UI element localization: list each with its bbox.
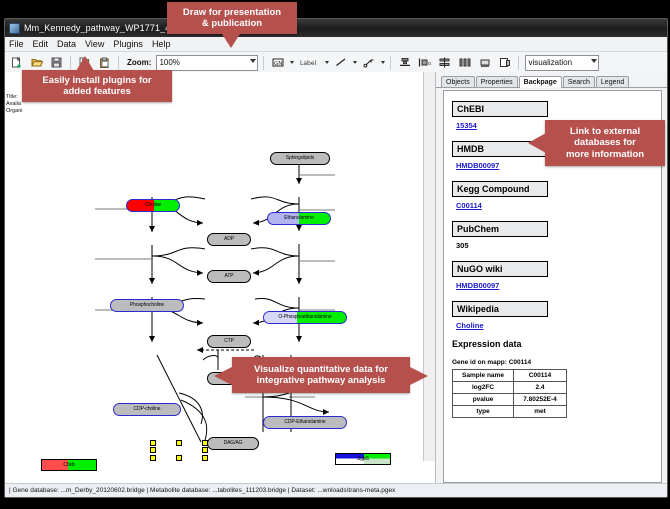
chevron-down-icon <box>250 59 256 63</box>
selection-handle-sw[interactable] <box>150 455 156 461</box>
paste-icon[interactable] <box>96 54 113 71</box>
table-row: Sample name C00114 <box>453 370 567 382</box>
status-text: | Gene database: ...m_Derby_20120602.bri… <box>9 487 395 494</box>
datanode-dropdown-icon[interactable] <box>290 61 294 64</box>
menu-file[interactable]: File <box>9 39 24 49</box>
svg-text:Label: Label <box>300 60 317 67</box>
node-label: CDP-choline <box>134 407 161 412</box>
tab-search[interactable]: Search <box>563 76 595 87</box>
cell-value: met <box>514 406 567 418</box>
annotation-draw-text: Draw for presentation& publication <box>183 7 281 30</box>
db-link-wikipedia[interactable]: Choline <box>456 321 661 330</box>
order-icon[interactable] <box>496 54 513 71</box>
datanode-icon[interactable]: GN <box>269 54 286 71</box>
save-icon[interactable] <box>48 54 65 71</box>
pathway-canvas-panel: Title: Availa Organi <box>5 72 436 497</box>
metabolite-node-adp[interactable]: ADP <box>207 233 251 246</box>
tab-properties[interactable]: Properties <box>476 76 518 87</box>
annotation-plugins-text: Easily install plugins foradded features <box>42 75 151 98</box>
db-header-nugo-wiki: NuGO wiki <box>452 261 548 277</box>
anchor-dropdown-icon[interactable] <box>381 61 385 64</box>
node-label: ADP <box>224 237 234 242</box>
db-header-pubchem: PubChem <box>452 221 548 237</box>
metabolite-node-atp[interactable]: ATP <box>207 270 251 283</box>
annotation-draw-presentation: Draw for presentation& publication <box>167 2 297 34</box>
menu-data[interactable]: Data <box>57 39 76 49</box>
stack-icon[interactable] <box>436 54 453 71</box>
toolbar-separator-3 <box>263 56 264 70</box>
annotation-links-pointer <box>528 133 546 153</box>
label-dropdown-icon[interactable] <box>325 61 329 64</box>
annotation-visualize-pointer-left <box>214 367 232 385</box>
toolbar-separator-2 <box>118 56 119 70</box>
node-label: Phosphocholine <box>130 303 164 308</box>
expression-data-heading: Expression data <box>452 339 661 349</box>
visualization-value: visualization <box>528 58 572 67</box>
node-label: CDP-Ethanolamine <box>284 420 325 425</box>
selection-handle-w[interactable] <box>150 447 156 453</box>
menu-bar: File Edit Data View Plugins Help <box>5 37 667 52</box>
group-icon[interactable] <box>476 54 493 71</box>
metabolite-node-phosphocholine[interactable]: Phosphocholine <box>110 299 184 312</box>
selection-handle-e[interactable] <box>202 447 208 453</box>
zoom-label: Zoom: <box>127 58 151 67</box>
selection-handle-n[interactable] <box>176 440 182 446</box>
cell-value: C00114 <box>514 370 567 382</box>
info-title-label: Title: <box>6 94 23 101</box>
cell-key: type <box>453 406 514 418</box>
pathway-canvas[interactable]: Title: Availa Organi <box>5 72 435 472</box>
node-label: Chkb <box>63 463 74 468</box>
db-header-chebi: ChEBI <box>452 101 548 117</box>
metabolite-node-dag[interactable]: DAG/AG <box>207 437 259 450</box>
cell-key: pvalue <box>453 394 514 406</box>
node-label: Ethanolamine <box>284 216 313 221</box>
annotation-install-plugins: Easily install plugins foradded features <box>22 70 172 102</box>
metabolite-node-cdp-ethanolamine[interactable]: CDP-Ethanolamine <box>263 416 347 429</box>
toolbar-separator-1 <box>70 56 71 70</box>
table-row: pvalue 7.80252E-4 <box>453 394 567 406</box>
tab-backpage[interactable]: Backpage <box>519 76 562 88</box>
db-value-pubchem: 305 <box>456 241 661 250</box>
node-label: Sgpl1 <box>357 457 369 462</box>
spacing-icon[interactable] <box>456 54 473 71</box>
table-row: type met <box>453 406 567 418</box>
selection-handle-ne[interactable] <box>202 440 208 446</box>
align-icon[interactable] <box>396 54 413 71</box>
metabolite-node-choline[interactable]: Choline <box>126 199 180 212</box>
db-header-wikipedia: Wikipedia <box>452 301 548 317</box>
anchor-icon[interactable] <box>360 54 377 71</box>
cell-value: 7.80252E-4 <box>514 394 567 406</box>
side-panel-tabs: Objects Properties Backpage Search Legen… <box>436 72 667 88</box>
tab-legend[interactable]: Legend <box>596 76 629 87</box>
node-label: O-Phosphoethanolamine <box>278 315 331 320</box>
window-titlebar: Mm_Kennedy_pathway_WP1771_45176.gpml <box>5 19 667 37</box>
metabolite-node-ctp[interactable]: CTP <box>207 335 251 348</box>
annotation-external-links: Link to externaldatabases formore inform… <box>545 120 665 166</box>
menu-view[interactable]: View <box>85 39 104 49</box>
node-label: ATP <box>224 274 233 279</box>
metabolite-node-cdp-choline[interactable]: CDP-choline <box>113 403 181 416</box>
canvas-vertical-scrollbar[interactable] <box>423 72 435 461</box>
table-row: log2FC 2.4 <box>453 382 567 394</box>
status-bar: | Gene database: ...m_Derby_20120602.bri… <box>5 483 668 497</box>
metabolite-node[interactable]: Sphingolipids <box>270 152 330 165</box>
zoom-value: 100% <box>159 58 179 67</box>
selection-handle-nw[interactable] <box>150 440 156 446</box>
annotation-visualize-pointer-right <box>410 367 428 385</box>
line-icon[interactable] <box>332 54 349 71</box>
label-icon[interactable]: Label <box>297 54 321 71</box>
annotation-visualize-data: Visualize quantitative data forintegrati… <box>232 357 410 393</box>
info-organism-label: Organi <box>6 108 23 115</box>
annotation-draw-pointer <box>222 34 240 48</box>
svg-text:GN: GN <box>274 61 282 67</box>
cell-value: 2.4 <box>514 382 567 394</box>
menu-help[interactable]: Help <box>152 39 171 49</box>
annotation-plugins-pointer <box>76 56 94 71</box>
db-header-kegg-compound: Kegg Compound <box>452 181 548 197</box>
node-label: DAG/AG <box>224 441 243 446</box>
node-label: CTP <box>224 339 234 344</box>
expression-data-table: Sample name C00114 log2FC 2.4 pvalue 7.8… <box>452 369 567 418</box>
gene-node-chkb[interactable]: Chkb <box>41 459 97 471</box>
menu-plugins[interactable]: Plugins <box>113 39 143 49</box>
new-icon[interactable] <box>8 54 25 71</box>
db-link-nugo-wiki[interactable]: HMDB00097 <box>456 281 661 290</box>
pathway-info-labels: Title: Availa Organi <box>6 94 23 115</box>
cell-key: Sample name <box>453 370 514 382</box>
zoom-combo[interactable]: 100% <box>156 55 258 71</box>
metabolite-node-o-phosphoethanolamine[interactable]: O-Phosphoethanolamine <box>263 311 347 324</box>
gene-id-on-mapp: Gene id on mapp: C00114 <box>452 359 661 366</box>
toolbar-separator-4 <box>390 56 391 70</box>
node-label: Choline <box>145 203 161 208</box>
svg-text:o: o <box>428 61 431 67</box>
node-label: Sphingolipids <box>286 156 314 161</box>
open-icon[interactable] <box>28 54 45 71</box>
cell-key: log2FC <box>453 382 514 394</box>
toolbar-separator-5 <box>518 56 519 70</box>
distribute-icon[interactable]: o <box>416 54 433 71</box>
selection-handle-s[interactable] <box>176 455 182 461</box>
app-icon <box>9 23 20 34</box>
gene-node-sgpl1[interactable]: Sgpl1 <box>335 453 391 465</box>
chevron-down-icon <box>591 59 597 63</box>
db-link-kegg-compound[interactable]: C00114 <box>456 201 661 210</box>
screenshot-root: Mm_Kennedy_pathway_WP1771_45176.gpml Fil… <box>0 0 670 509</box>
annotation-visualize-text: Visualize quantitative data forintegrati… <box>254 364 388 387</box>
line-dropdown-icon[interactable] <box>353 61 357 64</box>
annotation-links-text: Link to externaldatabases formore inform… <box>566 126 644 160</box>
menu-edit[interactable]: Edit <box>33 39 49 49</box>
visualization-combo[interactable]: visualization <box>525 55 599 71</box>
metabolite-node-ethanolamine[interactable]: Ethanolamine <box>267 212 331 225</box>
info-availability-label: Availa <box>6 101 23 108</box>
tab-objects[interactable]: Objects <box>441 76 475 87</box>
selection-handle-se[interactable] <box>202 455 208 461</box>
